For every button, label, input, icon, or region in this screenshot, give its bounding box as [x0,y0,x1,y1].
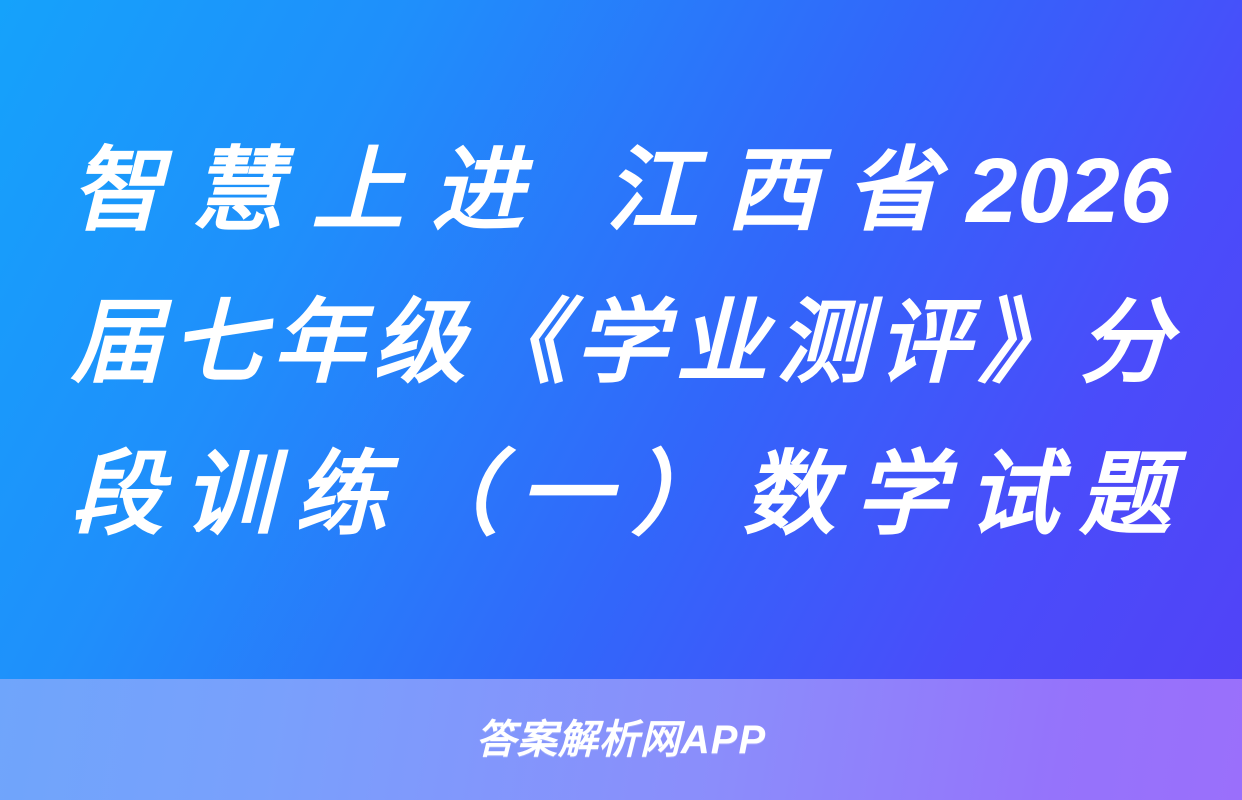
watermark-label: 答案解析网APP [476,720,766,760]
page-title-line-2-text: 届七年级《学业测评》分 [71,292,1171,394]
page-title-line-3: 段训练（一）数学试题 [71,419,1171,571]
page-title-line-1-text: 智慧上进 江西省2026 [71,140,1171,242]
page-title-line-3-text: 段训练（一）数学试题 [71,444,1171,546]
exam-title-card: 智慧上进 江西省2026 届七年级《学业测评》分 段训练（一）数学试题 答案解析… [0,0,1242,800]
page-title-line-1: 智慧上进 江西省2026 [71,115,1171,267]
watermark-band: 答案解析网APP [0,679,1242,800]
page-title-line-2: 届七年级《学业测评》分 [71,267,1171,419]
page-title: 智慧上进 江西省2026 届七年级《学业测评》分 段训练（一）数学试题 [71,109,1171,571]
hero-gradient-panel: 智慧上进 江西省2026 届七年级《学业测评》分 段训练（一）数学试题 [0,0,1242,679]
